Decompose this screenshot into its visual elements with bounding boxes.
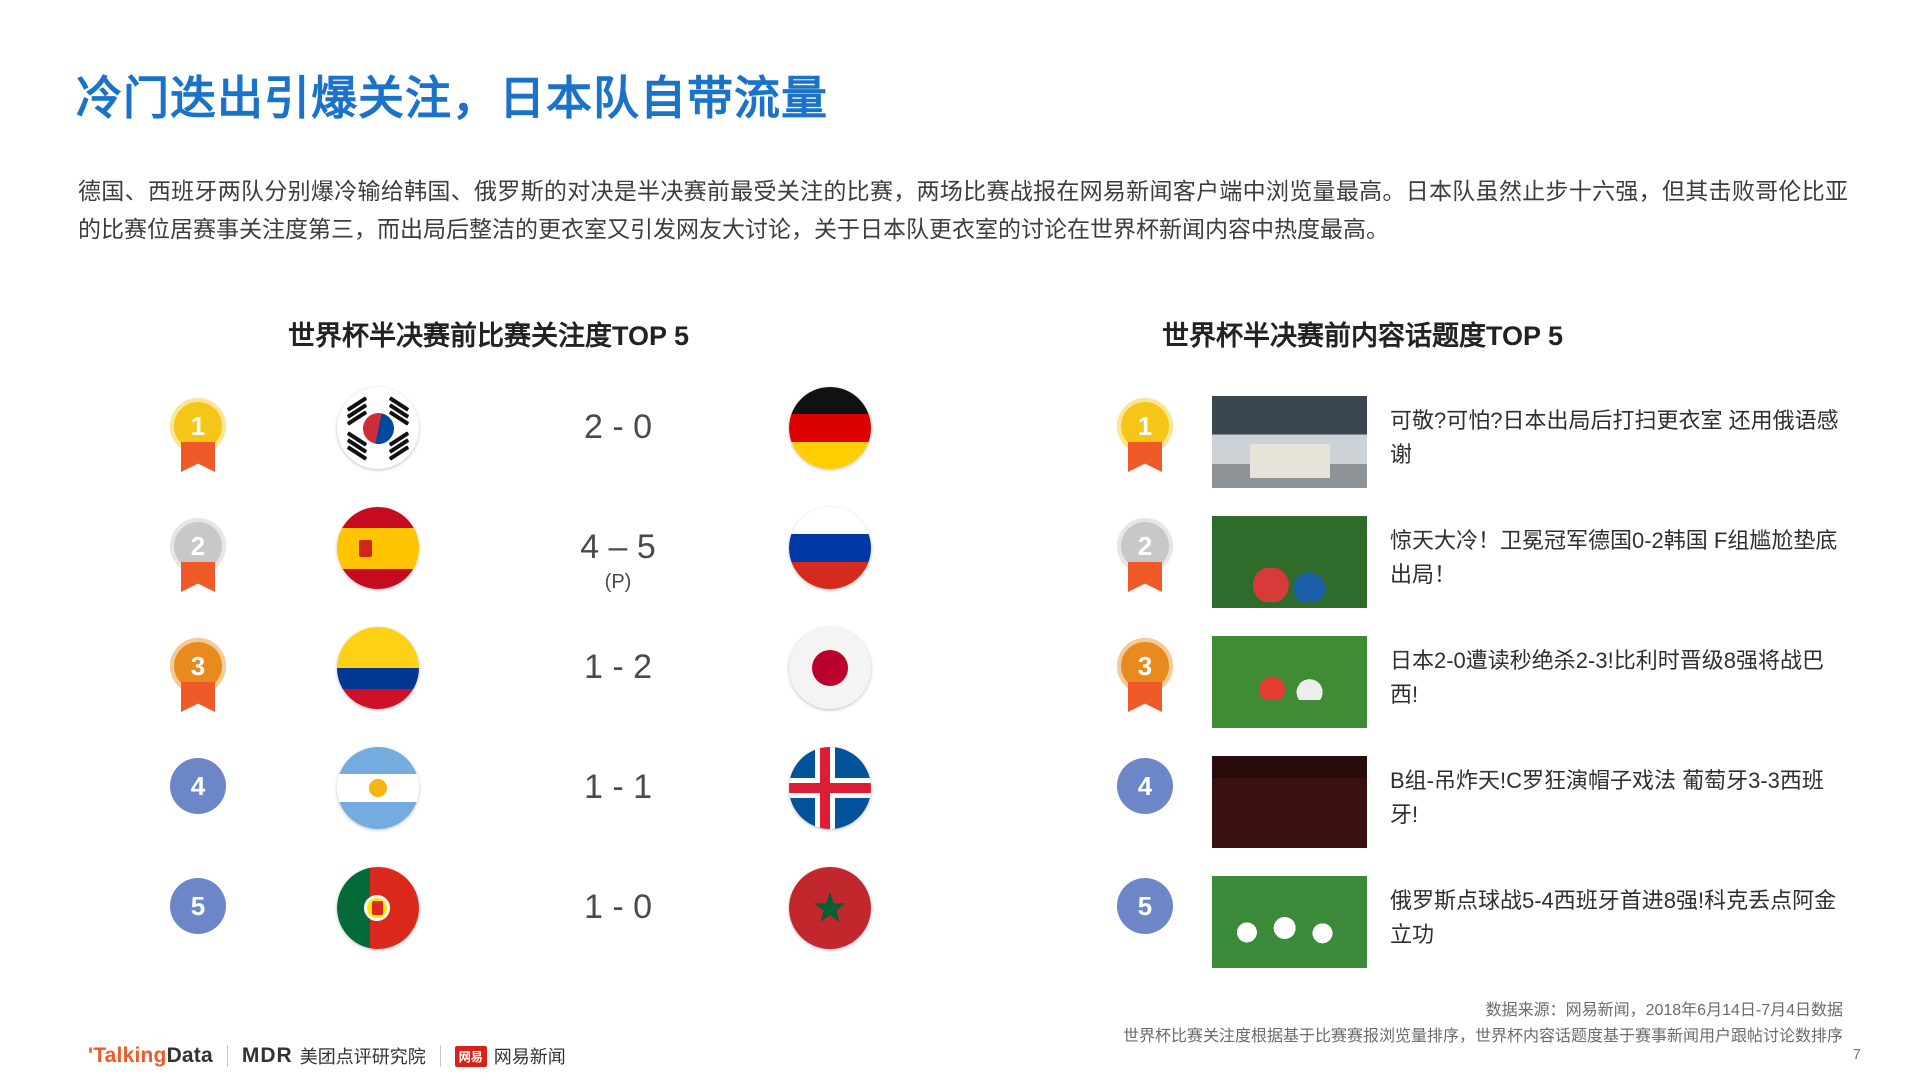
spain-flag — [337, 507, 419, 589]
argentina-flag — [337, 747, 419, 829]
mdr-logo: MDR 美团点评研究院 — [242, 1043, 426, 1069]
section-title-topics: 世界杯半决赛前内容话题度TOP 5 — [1162, 314, 1563, 353]
mdr-abbr: MDR — [242, 1044, 293, 1068]
topic-text-3: 日本2-0遭读秒绝杀2-3!比利时晋级8强将战巴西! — [1390, 644, 1850, 712]
team-celebration-photo — [1212, 876, 1367, 968]
rank-number: 5 — [1117, 878, 1173, 934]
section-title-matches: 世界杯半决赛前比赛关注度TOP 5 — [288, 314, 689, 353]
topic-rank-badge-1: 1 — [1117, 398, 1179, 460]
netease-logo: 网易 网易新闻 — [455, 1043, 566, 1069]
intro-paragraph: 德国、西班牙两队分别爆冷输给韩国、俄罗斯的对决是半决赛前最受关注的比赛，两场比赛… — [78, 172, 1848, 248]
locker-room-photo — [1212, 396, 1367, 488]
match-score-5: 1 - 0 — [528, 888, 708, 927]
match-score-1: 2 - 0 — [528, 408, 708, 447]
footer-logos: ' Talking Data MDR 美团点评研究院 网易 网易新闻 — [88, 1043, 566, 1069]
netease-name: 网易新闻 — [494, 1043, 566, 1069]
red-crowd-photo — [1212, 756, 1367, 848]
russia-flag — [789, 507, 871, 589]
data-source-note: 数据来源：网易新闻，2018年6月14日-7月4日数据 — [1486, 998, 1843, 1024]
rank-badge-5: 5 — [170, 878, 232, 940]
talkingdata-word1: Talking — [93, 1044, 166, 1068]
mdr-name: 美团点评研究院 — [300, 1043, 426, 1069]
methodology-note: 世界杯比赛关注度根据基于比赛赛报浏览量排序，世界杯内容话题度基于赛事新闻用户跟帖… — [1123, 1024, 1843, 1050]
topic-rank-badge-4: 4 — [1117, 758, 1179, 820]
rank-number: 4 — [170, 758, 226, 814]
topic-text-4: B组-吊炸天!C罗狂演帽子戏法 葡萄牙3-3西班牙! — [1390, 764, 1850, 832]
page-number: 7 — [1853, 1046, 1861, 1063]
topic-text-2: 惊天大冷！卫冕冠军德国0-2韩国 F组尴尬垫底出局！ — [1390, 524, 1850, 592]
rank-badge-2: 2 — [170, 518, 232, 580]
score-text: 4 – 5 — [580, 528, 656, 566]
talkingdata-logo: ' Talking Data — [88, 1044, 213, 1068]
page-title: 冷门迭出引爆关注，日本队自带流量 — [76, 62, 828, 128]
ribbon-icon — [1128, 442, 1162, 472]
footer-divider-2 — [440, 1045, 441, 1067]
ribbon-icon — [1128, 682, 1162, 712]
footer-divider-1 — [227, 1045, 228, 1067]
slide: 冷门迭出引爆关注，日本队自带流量 德国、西班牙两队分别爆冷输给韩国、俄罗斯的对决… — [0, 0, 1921, 1080]
rank-badge-3: 3 — [170, 638, 232, 700]
topic-text-1: 可敬?可怕?日本出局后打扫更衣室 还用俄语感谢 — [1390, 404, 1850, 472]
match-score-3: 1 - 2 — [528, 648, 708, 687]
match-score-2: 4 – 5 (P) — [528, 528, 708, 594]
penalty-note: (P) — [528, 571, 708, 594]
score-text: 1 - 2 — [584, 648, 652, 686]
colombia-flag — [337, 627, 419, 709]
ribbon-icon — [1128, 562, 1162, 592]
morocco-flag: ★ — [789, 867, 871, 949]
score-text: 1 - 0 — [584, 888, 652, 926]
goalmouth-save-photo — [1212, 516, 1367, 608]
south-korea-flag — [337, 387, 419, 469]
score-text: 2 - 0 — [584, 408, 652, 446]
ribbon-icon — [181, 562, 215, 592]
ribbon-icon — [181, 442, 215, 472]
pitch-celebration-photo — [1212, 636, 1367, 728]
rank-badge-4: 4 — [170, 758, 232, 820]
rank-number: 5 — [170, 878, 226, 934]
topic-rank-badge-3: 3 — [1117, 638, 1179, 700]
topic-rank-badge-5: 5 — [1117, 878, 1179, 940]
rank-number: 4 — [1117, 758, 1173, 814]
talkingdata-word2: Data — [167, 1044, 213, 1068]
score-text: 1 - 1 — [584, 768, 652, 806]
rank-badge-1: 1 — [170, 398, 232, 460]
portugal-flag — [337, 867, 419, 949]
match-score-4: 1 - 1 — [528, 768, 708, 807]
japan-flag — [789, 627, 871, 709]
germany-flag — [789, 387, 871, 469]
topic-rank-badge-2: 2 — [1117, 518, 1179, 580]
topic-text-5: 俄罗斯点球战5-4西班牙首进8强!科克丢点阿金立功 — [1390, 884, 1850, 952]
netease-badge-icon: 网易 — [455, 1046, 487, 1067]
iceland-flag — [789, 747, 871, 829]
ribbon-icon — [181, 682, 215, 712]
